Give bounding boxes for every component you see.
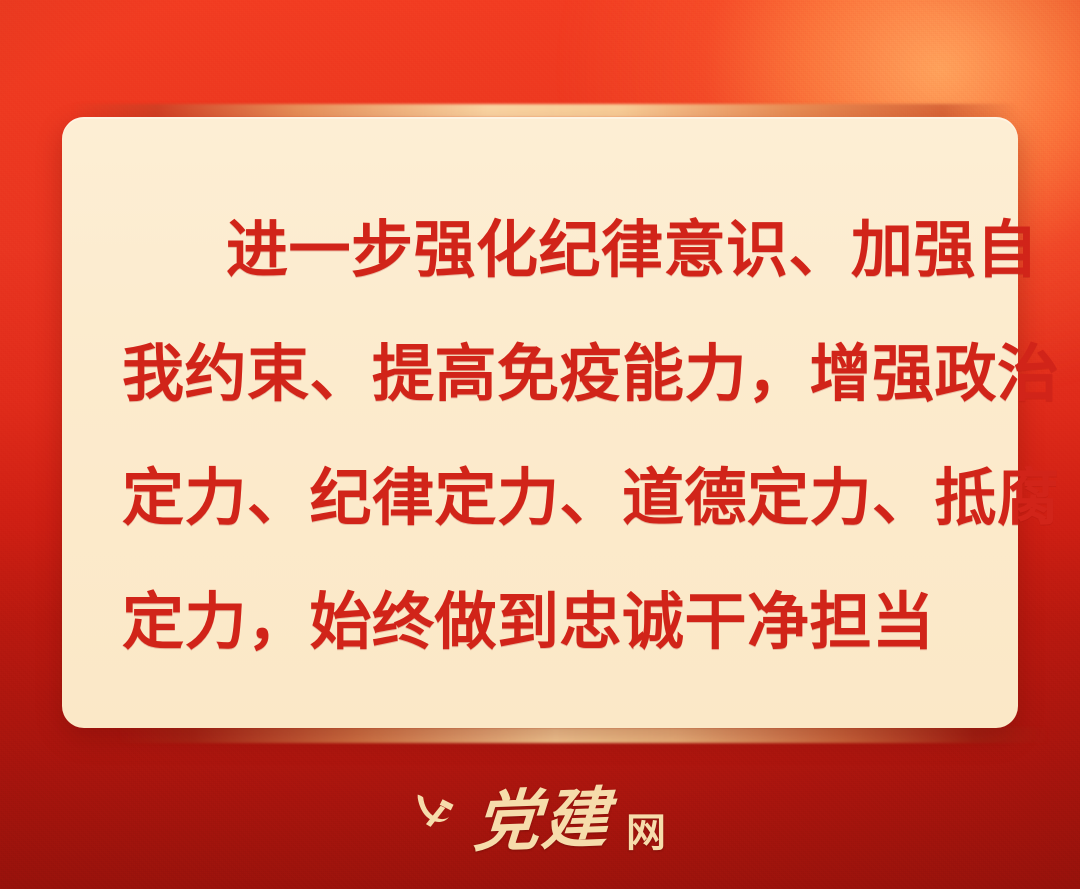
hammer-and-sickle-emblem-icon bbox=[414, 791, 460, 837]
quote-card: 进一步强化纪律意识、加强自 我约束、提高免疫能力，增强政治 定力、纪律定力、道德… bbox=[62, 117, 1018, 728]
quote-text-block: 进一步强化纪律意识、加强自 我约束、提高免疫能力，增强政治 定力、纪律定力、道德… bbox=[122, 189, 964, 685]
quote-line-4: 定力，始终做到忠诚干净担当 bbox=[122, 561, 964, 685]
quote-line-1: 进一步强化纪律意识、加强自 bbox=[122, 189, 964, 313]
poster-root: 进一步强化纪律意识、加强自 我约束、提高免疫能力，增强政治 定力、纪律定力、道德… bbox=[0, 0, 1080, 889]
quote-line-3: 定力、纪律定力、道德定力、抵腐 bbox=[122, 437, 964, 561]
logo-suffix-text: 网 bbox=[626, 813, 666, 853]
quote-line-2: 我约束、提高免疫能力，增强政治 bbox=[122, 313, 964, 437]
gold-edge-strip-top bbox=[72, 104, 1018, 118]
gold-edge-strip-bottom bbox=[118, 727, 1048, 743]
site-logo: 党建 网 bbox=[0, 780, 1080, 864]
logo-name-text: 党建 bbox=[471, 787, 612, 858]
